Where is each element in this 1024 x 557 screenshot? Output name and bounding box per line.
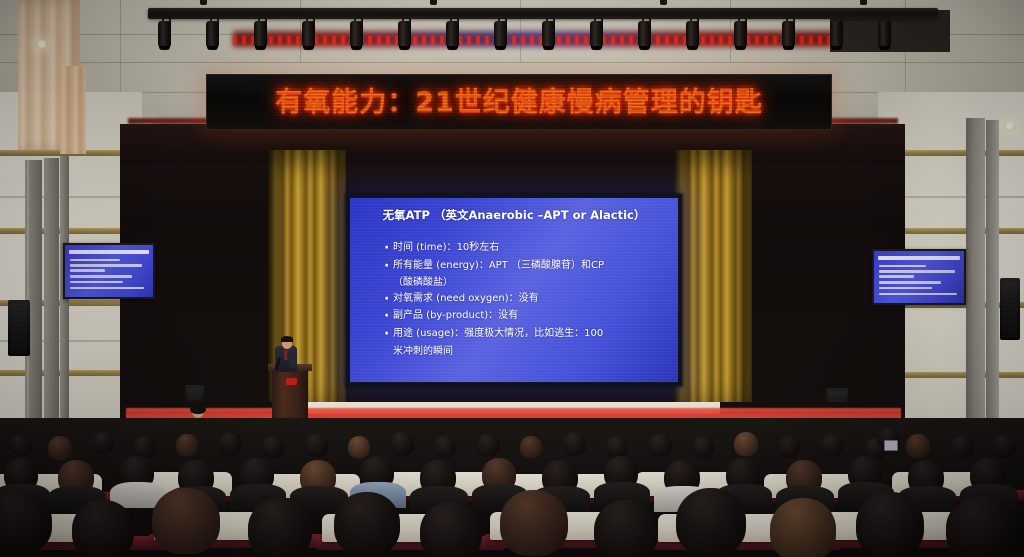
slide-bullet: 时间 (time)：10秒左右 — [384, 240, 664, 255]
audience-head — [992, 434, 1016, 458]
audience-head-foreground — [72, 500, 134, 557]
stage-lamp — [350, 16, 363, 50]
right-wall-monitor — [872, 249, 966, 305]
audience-head — [176, 434, 198, 456]
ceiling-downlight — [1004, 122, 1015, 131]
audience-head — [606, 436, 628, 458]
audience-head — [348, 436, 370, 458]
loudspeaker-cabinet-left — [8, 300, 30, 356]
stage-lamp — [638, 16, 651, 50]
stage-lamp — [254, 16, 267, 50]
audience-head-foreground — [770, 498, 836, 557]
audience-head — [820, 434, 844, 457]
audience-head-foreground — [334, 492, 400, 556]
stage-lamp — [398, 16, 411, 50]
stage-lamp — [494, 16, 507, 50]
stage-lamp — [446, 16, 459, 50]
audience-head — [218, 432, 242, 456]
slide-bullet: 用途 (usage)：强度极大情况，比如逃生：100 — [384, 326, 664, 341]
slide-bullet-continuation: 米冲刺的瞬间 — [384, 344, 664, 359]
seated-assistant-hair — [190, 401, 206, 414]
audience-head — [906, 434, 930, 458]
audience-phone — [884, 440, 898, 451]
stage-lamp — [734, 16, 747, 50]
projection-screen: 无氧ATP （英文Anaerobic –APT or Alactic） 时间 (… — [346, 194, 682, 386]
presenter-hair — [281, 336, 293, 342]
audience-head-foreground — [594, 500, 658, 557]
slide-bullet: 所有能量 (energy)：APT （三磷酸腺苷）和CP — [384, 258, 664, 273]
audience-head — [390, 432, 414, 456]
audience-head-foreground — [676, 488, 746, 556]
audience-head — [692, 436, 714, 458]
stage-lamp — [830, 16, 843, 50]
led-banner-text: 有氧能力：21世纪健康慢病管理的钥匙 — [275, 89, 763, 116]
audience-head — [92, 432, 114, 454]
audience-head — [434, 436, 456, 458]
audience-head — [562, 432, 586, 456]
right-monitor-screen — [874, 251, 964, 303]
audience-head — [648, 434, 672, 457]
ceiling-downlight — [36, 40, 47, 49]
audience-head-foreground — [946, 496, 1018, 557]
audience-head — [48, 436, 72, 460]
led-banner: 有氧能力：21世纪健康慢病管理的钥匙 — [206, 74, 832, 130]
stage-lamp — [158, 16, 171, 50]
audience-head — [476, 434, 500, 457]
stage-curtain-right — [674, 150, 752, 435]
left-wall-monitor — [63, 243, 155, 299]
podium — [272, 368, 308, 420]
audience-head-foreground — [856, 492, 924, 557]
presentation-slide: 无氧ATP （英文Anaerobic –APT or Alactic） 时间 (… — [350, 198, 678, 382]
stage-lamp — [542, 16, 555, 50]
audience-head-foreground — [248, 498, 312, 557]
audience-head — [734, 432, 758, 456]
stage-lamp — [782, 16, 795, 50]
loudspeaker-cabinet-right — [1000, 278, 1020, 340]
audience-head-foreground — [500, 490, 568, 556]
right-pillar — [966, 118, 985, 448]
stage-lamp — [686, 16, 699, 50]
audience-head — [520, 436, 542, 458]
audience-head — [262, 436, 284, 458]
left-pillar-outer — [60, 156, 69, 457]
stage-edge-highlight — [126, 408, 901, 416]
proscenium-header — [120, 124, 905, 164]
audience-head — [304, 434, 328, 457]
stage-lamp — [590, 16, 603, 50]
right-pillar-inner — [986, 120, 999, 448]
slide-bullet: 对氧需求 (need oxygen)：没有 — [384, 291, 664, 306]
stage-lamp — [302, 16, 315, 50]
slide-bullet-list: 时间 (time)：10秒左右 所有能量 (energy)：APT （三磷酸腺苷… — [384, 240, 664, 359]
slide-title: 无氧ATP （英文Anaerobic –APT or Alactic） — [350, 209, 678, 223]
audience-head — [10, 434, 32, 456]
slide-bullet-continuation: （酸磷酸盐） — [384, 275, 664, 290]
left-pillar-inner — [44, 158, 59, 457]
slide-bullet: 副产品 (by-product)：没有 — [384, 308, 664, 323]
peach-window-curtain-secondary — [60, 66, 86, 154]
audience-head-foreground — [0, 490, 52, 554]
audience-head — [778, 436, 800, 458]
podium-emblem — [286, 378, 297, 385]
left-monitor-screen — [65, 245, 153, 297]
stage-lamp — [878, 16, 891, 50]
audience-head — [950, 436, 974, 459]
audience-area — [0, 418, 1024, 557]
lecture-hall-photo: 有氧能力：21世纪健康慢病管理的钥匙 无氧ATP （英文Anaerobic –A… — [0, 0, 1024, 557]
audience-head-foreground — [152, 488, 220, 554]
stage-lamp — [206, 16, 219, 50]
audience-head-foreground — [420, 502, 482, 557]
